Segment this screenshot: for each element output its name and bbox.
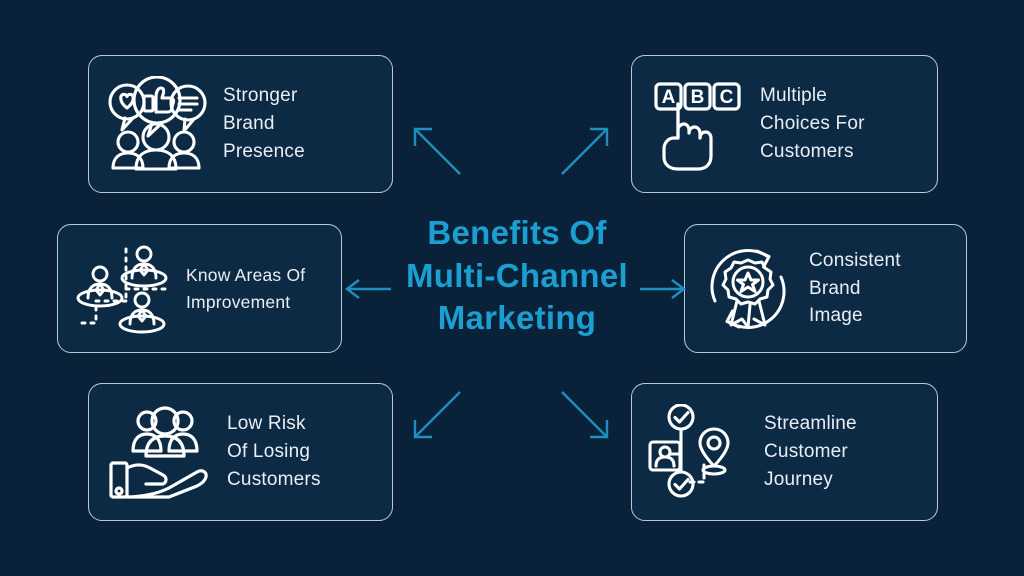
card-streamline-journey[interactable]: Streamline Customer Journey [631, 383, 938, 521]
hand-holding-people-icon [105, 404, 213, 500]
card-stronger-brand-presence[interactable]: Stronger Brand Presence [88, 55, 393, 193]
arrow-up-left-icon [412, 126, 462, 176]
card-label: Know Areas Of Improvement [186, 262, 305, 315]
card-low-risk[interactable]: Low Risk Of Losing Customers [88, 383, 393, 521]
abc-keys-hand-pointer-icon: A B C [648, 76, 746, 172]
infographic-canvas: Stronger Brand Presence A B C [0, 0, 1024, 576]
arrow-down-right-icon [560, 390, 610, 440]
award-badge-refresh-icon [701, 243, 795, 335]
card-consistent-brand-image[interactable]: Consistent Brand Image [684, 224, 967, 353]
card-label: Low Risk Of Losing Customers [227, 410, 321, 494]
arrow-down-left-icon [412, 390, 462, 440]
card-label: Streamline Customer Journey [764, 410, 857, 494]
network-of-people-icon [74, 243, 172, 335]
card-know-areas[interactable]: Know Areas Of Improvement [57, 224, 342, 353]
center-title: Benefits Of Multi-Channel Marketing [382, 212, 652, 340]
people-with-speech-bubbles-icon [105, 76, 209, 172]
card-label: Stronger Brand Presence [223, 82, 305, 166]
card-multiple-choices[interactable]: A B C Multiple Choices For Customers [631, 55, 938, 193]
customer-journey-map-icon [648, 404, 750, 500]
arrow-up-right-icon [560, 126, 610, 176]
key-letter-a: A [662, 87, 676, 108]
card-label: Multiple Choices For Customers [760, 82, 865, 166]
card-label: Consistent Brand Image [809, 247, 901, 331]
key-letter-b: B [691, 87, 705, 108]
key-letter-c: C [720, 87, 734, 108]
